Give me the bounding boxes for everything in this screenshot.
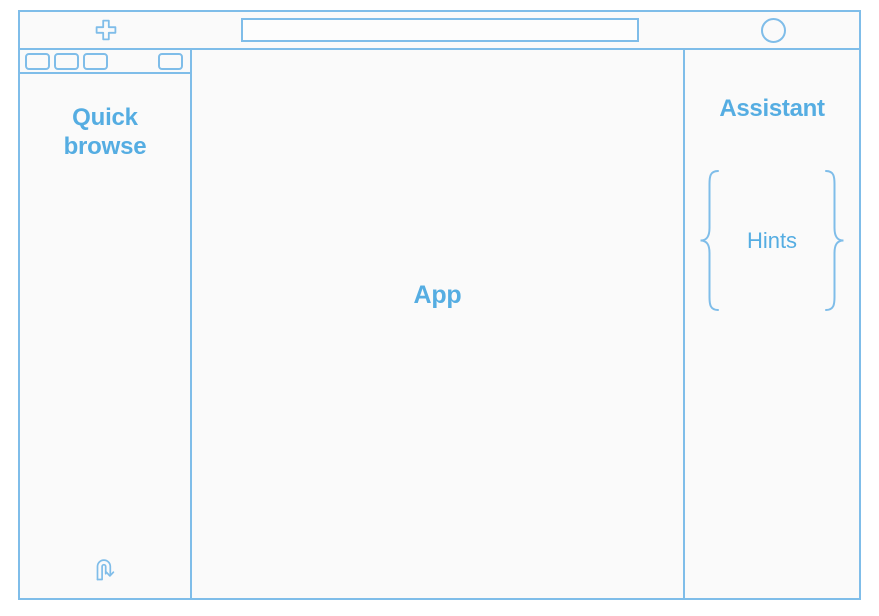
top-toolbar — [20, 12, 859, 50]
window-body: Quick browse App Assistant — [20, 50, 859, 598]
circle-avatar-icon[interactable] — [761, 18, 786, 43]
plus-icon[interactable] — [94, 18, 118, 42]
new-tab-zone — [20, 18, 192, 42]
left-curly-brace-icon — [697, 168, 723, 313]
app-content-panel: App — [192, 50, 685, 598]
sidebar-content: Quick browse — [20, 74, 190, 598]
assistant-panel: Assistant Hints — [685, 50, 859, 598]
tab-chip-overflow[interactable] — [158, 53, 183, 70]
address-bar-zone — [192, 18, 687, 42]
tab-chip-2[interactable] — [54, 53, 79, 70]
sidebar-tabstrip — [20, 50, 190, 74]
sidebar-panel: Quick browse — [20, 50, 192, 598]
browser-window: Quick browse App Assistant — [18, 10, 861, 600]
right-curly-brace-icon — [821, 168, 847, 313]
assistant-title: Assistant — [719, 95, 824, 123]
tab-chip-1[interactable] — [25, 53, 50, 70]
tab-chip-3[interactable] — [83, 53, 108, 70]
hints-label: Hints — [723, 228, 821, 254]
sidebar-title: Quick browse — [35, 103, 175, 162]
hints-block: Hints — [697, 168, 847, 313]
u-turn-arrow-icon[interactable] — [88, 552, 122, 586]
address-input[interactable] — [241, 18, 639, 42]
app-title: App — [414, 281, 462, 310]
avatar-zone — [687, 18, 859, 43]
